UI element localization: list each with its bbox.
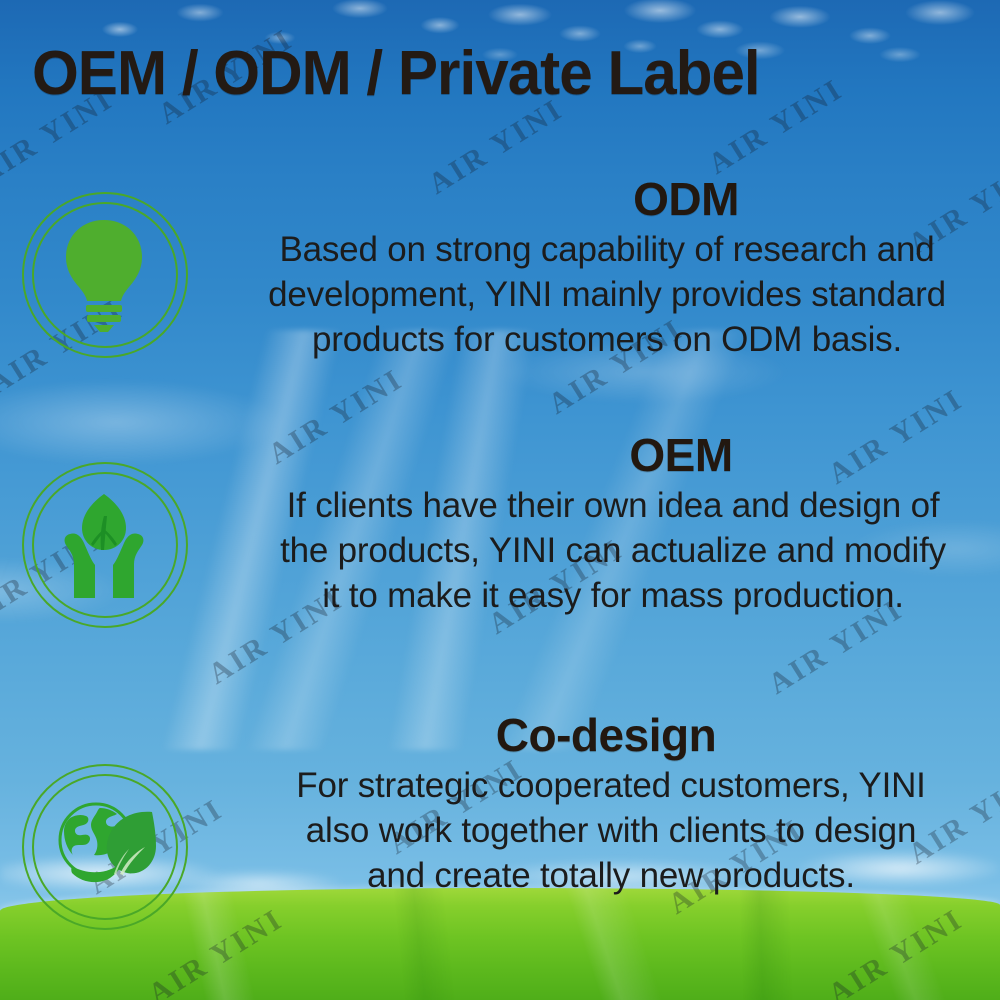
heading-codesign: Co-design xyxy=(196,712,996,759)
paragraph-oem: If clients have their own idea and desig… xyxy=(196,483,996,618)
paragraph-line: it to make it easy for mass production. xyxy=(230,573,996,618)
paragraph-line: development, YINI mainly provides standa… xyxy=(218,272,996,317)
paragraph-line: Based on strong capability of research a… xyxy=(218,227,996,272)
paragraph-line: the products, YINI can actualize and mod… xyxy=(230,528,996,573)
paragraph-line: and create totally new products. xyxy=(226,853,996,898)
promo-banner: AIR YINI AIR YINI AIR YINI AIR YINI AIR … xyxy=(0,0,1000,1000)
paragraph-odm: Based on strong capability of research a… xyxy=(196,227,996,362)
paragraph-line: also work together with clients to desig… xyxy=(226,808,996,853)
icon-badge-oem xyxy=(22,462,188,628)
page-title: OEM / ODM / Private Label xyxy=(32,38,760,109)
paragraph-line: If clients have their own idea and desig… xyxy=(230,483,996,528)
hands-holding-leaf-icon xyxy=(48,486,160,602)
lightbulb-icon xyxy=(48,216,160,332)
globe-leaf-icon xyxy=(48,788,160,904)
text-block-oem: OEM If clients have their own idea and d… xyxy=(196,432,996,618)
paragraph-line: products for customers on ODM basis. xyxy=(218,317,996,362)
icon-badge-odm xyxy=(22,192,188,358)
icon-badge-codesign xyxy=(22,764,188,930)
paragraph-codesign: For strategic cooperated customers, YINI… xyxy=(196,763,996,898)
text-block-odm: ODM Based on strong capability of resear… xyxy=(196,176,996,362)
paragraph-line: For strategic cooperated customers, YINI xyxy=(226,763,996,808)
heading-oem: OEM xyxy=(196,432,996,479)
heading-odm: ODM xyxy=(196,176,996,223)
text-block-codesign: Co-design For strategic cooperated custo… xyxy=(196,712,996,898)
